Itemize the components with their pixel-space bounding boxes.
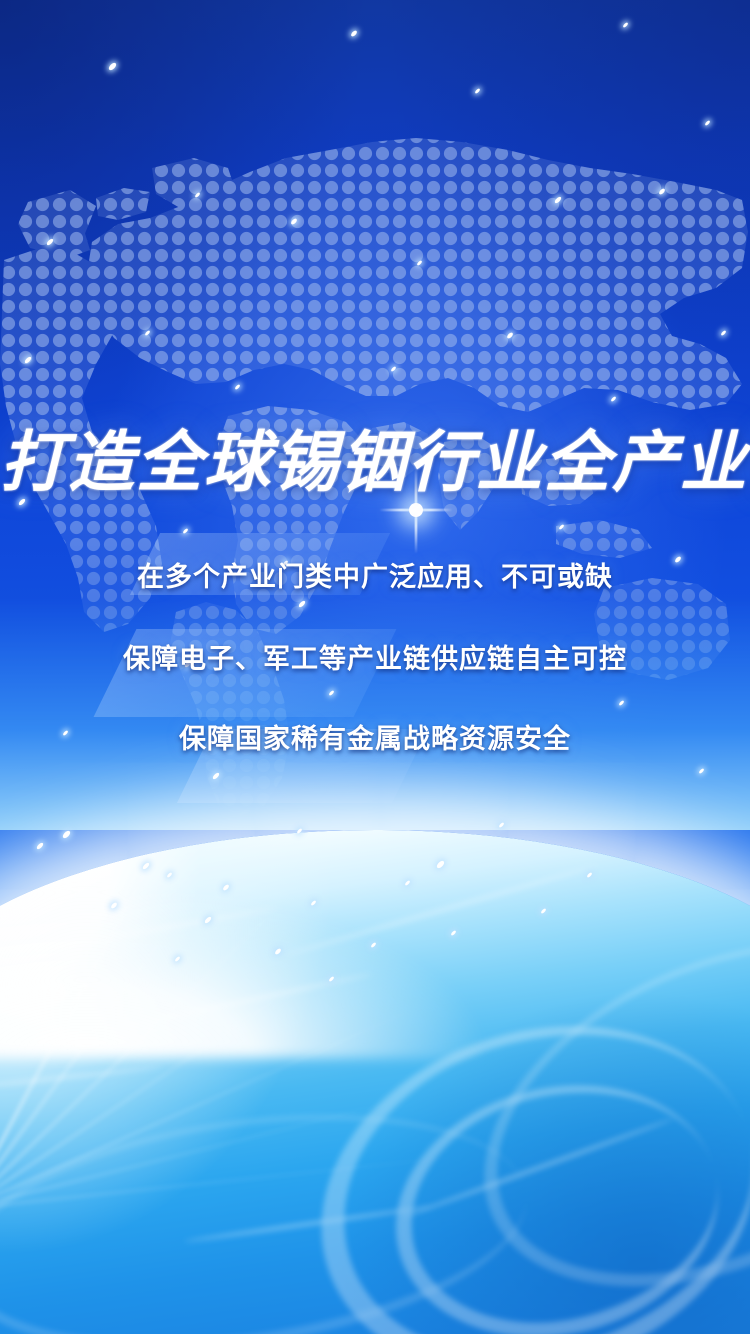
poster-subtitle-1: 在多个产业门类中广泛应用、不可或缺 <box>0 561 750 595</box>
poster-content: 打造全球锡铟行业全产业链链主 在多个产业门类中广泛应用、不可或缺 保障电子、军工… <box>0 0 750 1334</box>
poster-subtitle-2: 保障电子、军工等产业链供应链自主可控 <box>0 643 750 677</box>
promo-poster: 打造全球锡铟行业全产业链链主 在多个产业门类中广泛应用、不可或缺 保障电子、军工… <box>0 0 750 1334</box>
poster-title: 打造全球锡铟行业全产业链链主 <box>0 424 750 500</box>
poster-subtitle-3: 保障国家稀有金属战略资源安全 <box>0 723 750 757</box>
